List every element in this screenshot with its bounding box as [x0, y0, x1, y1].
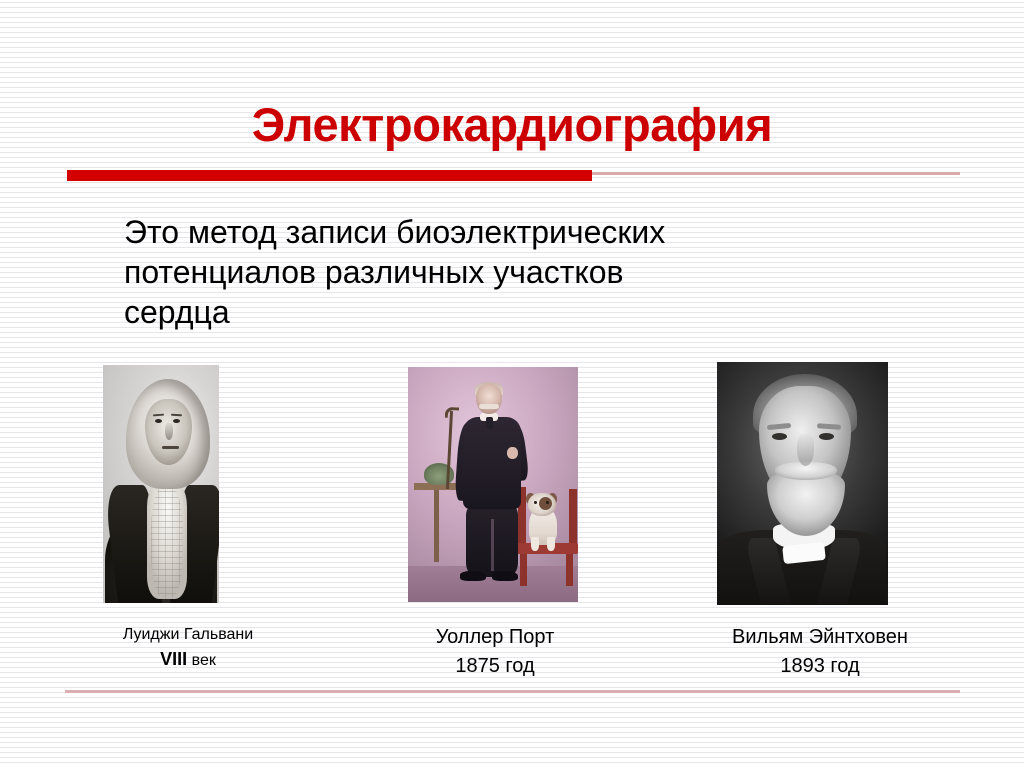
waller-shoe-left — [460, 571, 486, 581]
waller-dog-eye-left — [534, 501, 537, 504]
caption-einthoven-name: Вильям Эйнтховен — [660, 623, 980, 652]
waller-hand — [507, 447, 518, 459]
bottom-separator-line — [65, 690, 960, 693]
waller-shoe-right — [492, 571, 518, 581]
caption-galvani-name: Луиджи Гальвани — [43, 623, 333, 647]
caption-einthoven: Вильям Эйнтховен 1893 год — [660, 623, 980, 681]
waller-chair-leg-right — [566, 554, 573, 586]
caption-galvani: Луиджи Гальвани VIII век — [43, 623, 333, 673]
waller-dog-leg-left — [531, 537, 539, 551]
einthoven-eye-right — [819, 433, 834, 440]
waller-moustache — [479, 404, 499, 409]
waller-table-leg — [434, 490, 439, 562]
body-text-line-1: Это метод записи биоэлектрических — [124, 212, 914, 252]
caption-galvani-era: VIII век — [43, 647, 333, 673]
caption-waller-year: 1875 год — [370, 652, 620, 681]
waller-chair-leg-left — [520, 554, 527, 586]
portrait-einthoven-image — [717, 362, 888, 605]
galvani-lace-cravat — [147, 477, 187, 599]
galvani-eye-right — [173, 419, 180, 423]
figure-waller — [408, 367, 578, 602]
body-text-line-2: потенциалов различных участков — [124, 252, 914, 292]
einthoven-nose — [797, 434, 814, 466]
title-underline-bar — [67, 170, 592, 181]
slide: Электрокардиография Это метод записи био… — [0, 0, 1024, 767]
galvani-nose — [165, 423, 173, 440]
waller-tie — [486, 417, 493, 429]
figure-row — [0, 360, 1024, 620]
waller-chair-back-right — [569, 489, 577, 547]
waller-suit-jacket — [463, 417, 521, 509]
title-underline-extension — [592, 172, 960, 175]
caption-galvani-era-word: век — [187, 652, 216, 669]
waller-head — [476, 384, 502, 414]
einthoven-eye-left — [772, 433, 787, 440]
figure-einthoven — [717, 362, 888, 605]
title-block: Электрокардиография — [0, 96, 1024, 154]
caption-waller-name: Уоллер Порт — [370, 623, 620, 652]
galvani-mouth — [162, 446, 179, 449]
waller-trouser-gap — [491, 519, 494, 571]
figure-galvani — [103, 365, 219, 603]
waller-dog-leg-right — [547, 537, 555, 551]
body-text: Это метод записи биоэлектрических потенц… — [124, 212, 914, 332]
galvani-eye-left — [155, 419, 162, 423]
caption-galvani-era-number: VIII — [160, 649, 187, 669]
portrait-waller-image — [408, 367, 578, 602]
portrait-galvani-image — [103, 365, 219, 603]
page-title: Электрокардиография — [0, 96, 1024, 154]
caption-einthoven-year: 1893 год — [660, 652, 980, 681]
caption-waller: Уоллер Порт 1875 год — [370, 623, 620, 681]
body-text-line-3: сердца — [124, 292, 914, 332]
waller-dog-eye-right — [546, 501, 549, 504]
